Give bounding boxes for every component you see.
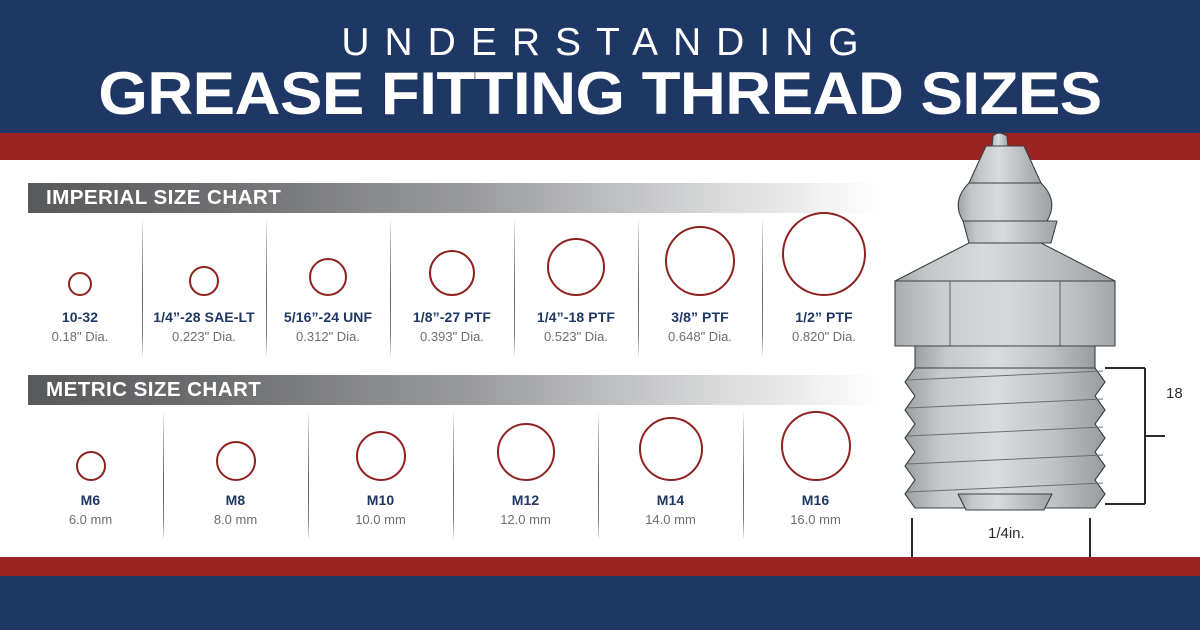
thread-size-label: 1/8”-27 PTF <box>390 308 514 326</box>
column-divider <box>743 411 744 539</box>
thread-diameter-circle <box>547 238 605 296</box>
size-chart-cell: M1212.0 mm <box>453 407 598 542</box>
section-header-imperial: IMPERIAL SIZE CHART <box>28 183 880 213</box>
thread-diameter-circle-wrap <box>18 407 163 485</box>
thread-diameter-circle <box>76 451 106 481</box>
footer-band <box>0 576 1200 630</box>
thread-size-label: M12 <box>453 491 598 509</box>
thread-size-label: 3/8” PTF <box>638 308 762 326</box>
thread-diameter-circle <box>781 411 851 481</box>
metric-size-chart: M66.0 mmM88.0 mmM1010.0 mmM1212.0 mmM141… <box>18 407 898 542</box>
thread-diameter-label: 0.18" Dia. <box>18 328 142 346</box>
size-chart-cell-labels: M66.0 mm <box>18 491 163 529</box>
thread-diameter-label: 6.0 mm <box>18 511 163 529</box>
thread-diameter-label: 12.0 mm <box>453 511 598 529</box>
thread-size-label: M16 <box>743 491 888 509</box>
thread-diameter-circle-wrap <box>762 214 886 300</box>
column-divider <box>163 411 164 539</box>
thread-size-label: 1/4”-28 SAE-LT <box>142 308 266 326</box>
size-chart-cell: M1616.0 mm <box>743 407 888 542</box>
thread-diameter-circle-wrap <box>163 407 308 485</box>
thread-diameter-circle <box>497 423 555 481</box>
section-header-metric-label: METRIC SIZE CHART <box>46 375 261 405</box>
thread-diameter-label: 0.393" Dia. <box>390 328 514 346</box>
column-divider <box>266 218 267 356</box>
imperial-size-chart: 10-320.18" Dia.1/4”-28 SAE-LT0.223" Dia.… <box>18 214 898 356</box>
thread-size-label: 10-32 <box>18 308 142 326</box>
dimension-label-diameter: 1/4in. <box>988 525 1025 542</box>
thread-diameter-label: 0.648" Dia. <box>638 328 762 346</box>
thread-diameter-label: 16.0 mm <box>743 511 888 529</box>
thread-diameter-circle-wrap <box>638 214 762 300</box>
thread-diameter-label: 0.223" Dia. <box>142 328 266 346</box>
column-divider <box>598 411 599 539</box>
thread-diameter-label: 0.523" Dia. <box>514 328 638 346</box>
size-chart-cell: M66.0 mm <box>18 407 163 542</box>
thread-diameter-label: 14.0 mm <box>598 511 743 529</box>
thread-diameter-circle-wrap <box>514 214 638 300</box>
size-chart-cell-labels: 3/8” PTF0.648" Dia. <box>638 308 762 346</box>
size-chart-cell-labels: 1/2” PTF0.820" Dia. <box>762 308 886 346</box>
thread-size-label: M14 <box>598 491 743 509</box>
column-divider <box>308 411 309 539</box>
thread-diameter-circle <box>639 417 703 481</box>
size-chart-cell-labels: 1/4”-28 SAE-LT0.223" Dia. <box>142 308 266 346</box>
size-chart-cell: 10-320.18" Dia. <box>18 214 142 356</box>
dimension-lines <box>880 128 1200 558</box>
thread-diameter-label: 0.312" Dia. <box>266 328 390 346</box>
thread-diameter-circle-wrap <box>18 214 142 300</box>
thread-diameter-circle <box>216 441 256 481</box>
thread-size-label: 1/4”-18 PTF <box>514 308 638 326</box>
size-chart-cell: 3/8” PTF0.648" Dia. <box>638 214 762 356</box>
thread-size-label: M10 <box>308 491 453 509</box>
thread-diameter-circle-wrap <box>308 407 453 485</box>
dimension-label-threads: 18 <box>1166 385 1183 402</box>
size-chart-cell: 5/16”-24 UNF0.312" Dia. <box>266 214 390 356</box>
thread-size-label: M8 <box>163 491 308 509</box>
column-divider <box>390 218 391 356</box>
thread-diameter-circle <box>665 226 735 296</box>
accent-band-bottom <box>0 557 1200 576</box>
size-chart-cell-labels: 10-320.18" Dia. <box>18 308 142 346</box>
size-chart-cell-labels: 1/4”-18 PTF0.523" Dia. <box>514 308 638 346</box>
thread-size-label: M6 <box>18 491 163 509</box>
thread-diameter-circle-wrap <box>142 214 266 300</box>
thread-diameter-circle-wrap <box>390 214 514 300</box>
size-chart-cell-labels: 1/8”-27 PTF0.393" Dia. <box>390 308 514 346</box>
size-chart-cell: 1/4”-28 SAE-LT0.223" Dia. <box>142 214 266 356</box>
section-header-metric: METRIC SIZE CHART <box>28 375 880 405</box>
size-chart-cell-labels: 5/16”-24 UNF0.312" Dia. <box>266 308 390 346</box>
infographic-page: UNDERSTANDING GREASE FITTING THREAD SIZE… <box>0 0 1200 630</box>
thread-diameter-circle-wrap <box>743 407 888 485</box>
size-chart-cell: 1/4”-18 PTF0.523" Dia. <box>514 214 638 356</box>
header-banner: UNDERSTANDING GREASE FITTING THREAD SIZE… <box>0 0 1200 133</box>
thread-diameter-circle <box>189 266 219 296</box>
thread-size-label: 5/16”-24 UNF <box>266 308 390 326</box>
size-chart-cell: M88.0 mm <box>163 407 308 542</box>
size-chart-cell: M1414.0 mm <box>598 407 743 542</box>
thread-diameter-label: 0.820" Dia. <box>762 328 886 346</box>
thread-diameter-circle <box>309 258 347 296</box>
column-divider <box>514 218 515 356</box>
size-chart-cell: 1/2” PTF0.820" Dia. <box>762 214 886 356</box>
thread-diameter-circle-wrap <box>453 407 598 485</box>
thread-diameter-circle <box>356 431 406 481</box>
size-chart-cell-labels: M1212.0 mm <box>453 491 598 529</box>
column-divider <box>762 218 763 356</box>
section-header-imperial-label: IMPERIAL SIZE CHART <box>46 183 281 213</box>
size-chart-cell-labels: M1010.0 mm <box>308 491 453 529</box>
column-divider <box>638 218 639 356</box>
size-chart-cell-labels: M1616.0 mm <box>743 491 888 529</box>
thread-diameter-label: 10.0 mm <box>308 511 453 529</box>
column-divider <box>453 411 454 539</box>
thread-diameter-circle-wrap <box>266 214 390 300</box>
column-divider <box>142 218 143 356</box>
thread-diameter-circle-wrap <box>598 407 743 485</box>
page-title: GREASE FITTING THREAD SIZES <box>0 62 1200 126</box>
thread-diameter-circle <box>68 272 92 296</box>
size-chart-cell: M1010.0 mm <box>308 407 453 542</box>
thread-diameter-circle <box>782 212 866 296</box>
size-chart-cell-labels: M1414.0 mm <box>598 491 743 529</box>
thread-diameter-circle <box>429 250 475 296</box>
size-chart-cell: 1/8”-27 PTF0.393" Dia. <box>390 214 514 356</box>
size-chart-cell-labels: M88.0 mm <box>163 491 308 529</box>
thread-diameter-label: 8.0 mm <box>163 511 308 529</box>
thread-size-label: 1/2” PTF <box>762 308 886 326</box>
